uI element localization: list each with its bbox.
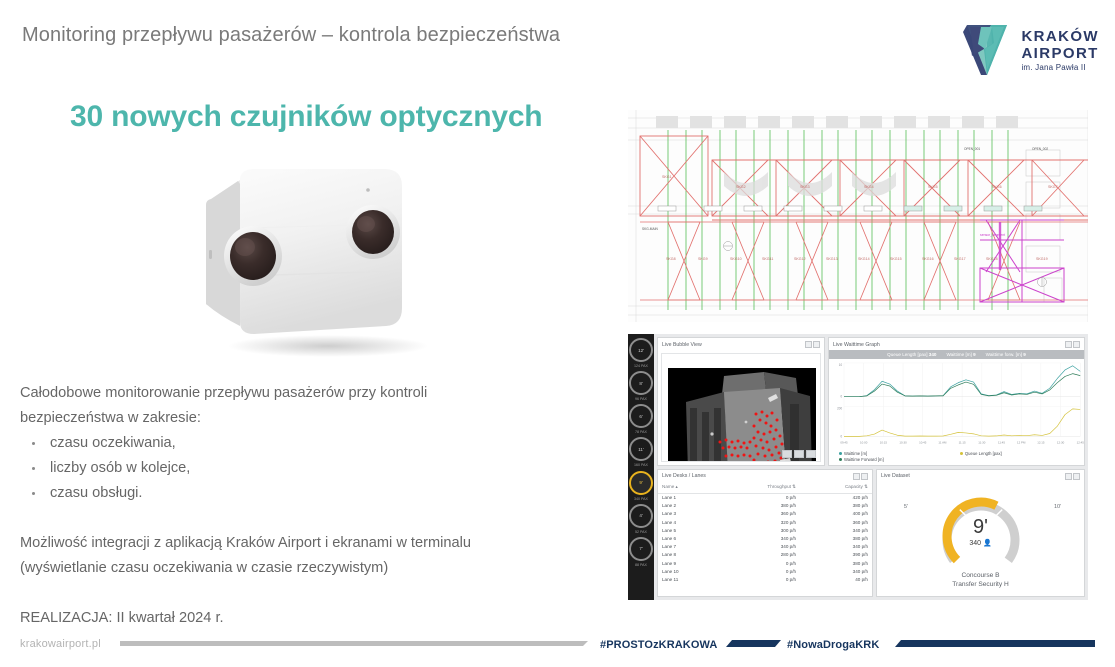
lane-name: Lane 9	[658, 559, 715, 567]
rail-gauge-caption: 78 PAX	[635, 430, 647, 434]
table-row[interactable]: Lane 90 p/h380 p/h	[658, 559, 872, 567]
rail-gauge-item[interactable]: 4'	[629, 504, 653, 528]
lane-name: Lane 11	[658, 575, 715, 583]
expand-icon[interactable]	[805, 341, 812, 348]
svg-text:SKG17: SKG17	[954, 257, 966, 261]
cad-note-highlight: sensor_segment	[980, 233, 1005, 237]
table-row[interactable]: Lane 4320 p/h360 p/h	[658, 518, 872, 526]
card-body: 5' 10' 9' 340	[877, 482, 1084, 597]
intro-line-2: bezpieczeństwa w zakresie:	[20, 406, 620, 431]
footer-bar-navy-2	[895, 640, 1095, 647]
gauge-tick-right: 10'	[1054, 504, 1061, 510]
table-row[interactable]: Lane 6340 p/h380 p/h	[658, 534, 872, 542]
logo-line-1: KRAKÓW	[1021, 29, 1099, 44]
rail-gauge-caption: 52 PAX	[635, 530, 647, 534]
live-dashboard: 12' 124 PAX 8' 96 PAX 6' 78 PAX 11' 160 …	[628, 334, 1088, 600]
checkpoint-bubble-map	[668, 368, 816, 462]
svg-text:12:30: 12:30	[1057, 440, 1065, 444]
dashboard-sidebar-rail[interactable]: 12' 124 PAX 8' 96 PAX 6' 78 PAX 11' 160 …	[628, 334, 654, 600]
lane-name: Lane 1	[658, 493, 715, 502]
svg-text:10: 10	[839, 363, 843, 367]
legend-label: Waittime [m]	[844, 451, 867, 456]
rail-gauge-item[interactable]: 7'	[629, 537, 653, 561]
svg-text:12:15: 12:15	[1037, 440, 1045, 444]
rail-gauge-caption: 88 PAX	[635, 563, 647, 567]
gauge-tick-left: 5'	[904, 504, 908, 510]
dashboard-content: Live Bubble View	[654, 334, 1088, 600]
krakow-airport-logo: KRAKÓW AIRPORT im. Jana Pawła II	[961, 22, 1099, 78]
logo-mark-icon	[961, 22, 1013, 78]
svg-text:SKG-MAIN: SKG-MAIN	[642, 227, 658, 231]
lane-name: Lane 7	[658, 543, 715, 551]
table-row[interactable]: Lane 3360 p/h400 p/h	[658, 510, 872, 518]
card-title: Live Bubble View	[662, 342, 702, 348]
paragraph-spacer	[20, 506, 620, 531]
svg-text:SKG5: SKG5	[928, 185, 938, 189]
legend-item: Waittime [m]	[839, 451, 884, 456]
legend-item: Queue Length [pax]	[960, 451, 1002, 456]
waittime-gauge	[933, 488, 1029, 570]
svg-text:SKG11: SKG11	[762, 257, 773, 261]
svg-text:11:45: 11:45	[998, 440, 1005, 444]
svg-text:SKG9: SKG9	[698, 257, 708, 261]
waittime-chart-area: 100200009:4510:0010:1510:3010:4511 AM11:…	[829, 359, 1084, 450]
view-mode-3-icon[interactable]	[806, 450, 816, 458]
card-title: Live Desks / Lanes	[662, 473, 706, 479]
svg-text:SKG18: SKG18	[986, 257, 998, 261]
lane-throughput: 340 p/h	[715, 543, 800, 551]
expand-icon[interactable]	[853, 473, 860, 480]
svg-text:09:45: 09:45	[840, 440, 848, 444]
lane-throughput: 0 p/h	[715, 559, 800, 567]
rail-gauge-item-active[interactable]: 9'	[629, 471, 653, 495]
list-item: czasu obsługi.	[20, 481, 620, 506]
table-row[interactable]: Lane 2380 p/h380 p/h	[658, 502, 872, 510]
svg-text:10:30: 10:30	[899, 440, 907, 444]
svg-text:12 PM: 12 PM	[1017, 440, 1026, 444]
logo-line-3: im. Jana Pawła II	[1021, 64, 1099, 72]
body-copy: Całodobowe monitorowanie przepływu pasaż…	[20, 381, 620, 631]
card-header: Live Bubble View	[658, 338, 824, 350]
stat-waittime: Waittime [m] 9	[946, 352, 975, 357]
lane-name: Lane 2	[658, 502, 715, 510]
legend-label: Waittime Forward [m]	[844, 457, 884, 462]
lane-capacity: 40 p/h	[800, 575, 872, 583]
lane-capacity: 390 p/h	[800, 551, 872, 559]
gauge-wrapper: 5' 10' 9' 340	[877, 482, 1084, 597]
rail-gauge-caption: 124 PAX	[634, 364, 648, 368]
svg-text:10:15: 10:15	[880, 440, 888, 444]
legend-spacer	[884, 451, 960, 462]
svg-text:SKG7: SKG7	[1048, 185, 1058, 189]
svg-text:200: 200	[837, 407, 842, 411]
svg-text:SKG1: SKG1	[662, 175, 672, 179]
lane-name: Lane 5	[658, 526, 715, 534]
scope-bullet-list: czasu oczekiwania, liczby osób w kolejce…	[20, 431, 620, 506]
lane-capacity: 340 p/h	[800, 543, 872, 551]
stat-queue-length: Queue Length [pax] 340	[887, 352, 936, 357]
headline: 30 nowych czujników optycznych	[70, 100, 542, 134]
lanes-table: Name ▴ Throughput ⇅ Capacity ⇅ Lane 10 p…	[658, 482, 872, 584]
svg-text:SKG19: SKG19	[1036, 257, 1048, 261]
svg-text:SKG8: SKG8	[666, 257, 676, 261]
intro-line-1: Całodobowe monitorowanie przepływu pasaż…	[20, 381, 620, 406]
dashboard-row-top: Live Bubble View	[657, 337, 1085, 466]
lane-throughput: 340 p/h	[715, 534, 800, 542]
svg-text:10:00: 10:00	[860, 440, 868, 444]
waittime-line-chart: 100200009:4510:0010:1510:3010:4511 AM11:…	[829, 359, 1084, 450]
terminal-coverage-plan: sensor_segment SKG1SKG2SKG3 SKG4SKG5SKG6…	[628, 110, 1088, 322]
rail-gauge-caption: 96 PAX	[635, 397, 647, 401]
rail-gauge-item[interactable]: 6'	[629, 404, 653, 428]
lane-throughput: 280 p/h	[715, 551, 800, 559]
card-body: Name ▴ Throughput ⇅ Capacity ⇅ Lane 10 p…	[658, 482, 872, 597]
view-mode-2-icon[interactable]	[794, 450, 804, 458]
card-tools[interactable]	[805, 341, 820, 348]
card-header: Live Dataset	[877, 470, 1084, 482]
legend-swatch-icon	[839, 458, 842, 461]
lane-name: Lane 3	[658, 510, 715, 518]
svg-text:11:30: 11:30	[978, 440, 985, 444]
collapse-icon[interactable]	[861, 473, 868, 480]
integration-line-2: (wyświetlanie czasu oczekiwania w czasie…	[20, 556, 620, 581]
live-lanes-card: Live Desks / Lanes Name ▴ Throughput ⇅	[657, 469, 873, 598]
table-header-row: Name ▴ Throughput ⇅ Capacity ⇅	[658, 482, 872, 494]
legend-swatch-icon	[960, 452, 963, 455]
expand-icon[interactable]	[1065, 341, 1072, 348]
col-throughput[interactable]: Throughput ⇅	[715, 482, 800, 494]
expand-icon[interactable]	[1065, 473, 1072, 480]
list-item: czasu oczekiwania,	[20, 431, 620, 456]
lane-capacity: 380 p/h	[800, 502, 872, 510]
footer-hashtag-1: #PROSTOzKRAKOWA	[600, 639, 717, 651]
card-header: Live Desks / Lanes	[658, 470, 872, 482]
lane-throughput: 380 p/h	[715, 502, 800, 510]
table-row[interactable]: Lane 8280 p/h390 p/h	[658, 551, 872, 559]
slide-footer: krakowairport.pl #PROSTOzKRAKOWA #NowaDr…	[0, 621, 1115, 667]
svg-text:SKG10: SKG10	[730, 257, 742, 261]
svg-text:0: 0	[840, 434, 842, 438]
legend-col-left: Waittime [m] Waittime Forward [m]	[839, 451, 884, 462]
cad-drawing: sensor_segment SKG1SKG2SKG3 SKG4SKG5SKG6…	[628, 110, 1088, 322]
svg-text:SKG14: SKG14	[858, 257, 870, 261]
legend-spacer	[1002, 451, 1078, 462]
lane-capacity: 360 p/h	[800, 518, 872, 526]
col-name[interactable]: Name ▴	[658, 482, 715, 494]
svg-text:11:15: 11:15	[959, 440, 966, 444]
live-waittime-graph-card: Live Waittime Graph Queue Length [pax] 3…	[828, 337, 1085, 466]
svg-text:SKG12: SKG12	[794, 257, 806, 261]
svg-text:SKG16: SKG16	[922, 257, 934, 261]
lane-capacity: 340 p/h	[800, 526, 872, 534]
legend-col-right: Queue Length [pax]	[960, 451, 1002, 462]
lanes-table-body: Lane 10 p/h420 p/hLane 2380 p/h380 p/hLa…	[658, 493, 872, 584]
lane-capacity: 380 p/h	[800, 559, 872, 567]
live-bubble-view-card: Live Bubble View	[657, 337, 825, 466]
lane-name: Lane 8	[658, 551, 715, 559]
table-row[interactable]: Lane 5300 p/h340 p/h	[658, 526, 872, 534]
table-row[interactable]: Lane 100 p/h340 p/h	[658, 567, 872, 575]
card-tools[interactable]	[1065, 341, 1080, 348]
svg-text:SKG15: SKG15	[890, 257, 902, 261]
bubble-view-controls[interactable]	[782, 450, 816, 458]
optical-stereo-sensor-image	[180, 150, 460, 365]
card-body	[658, 350, 824, 465]
rail-gauge-item[interactable]: 12'	[629, 338, 653, 362]
svg-text:12:45: 12:45	[1077, 440, 1084, 444]
page-title: Monitoring przepływu pasażerów – kontrol…	[22, 24, 560, 47]
lane-name: Lane 10	[658, 567, 715, 575]
svg-text:SKG4: SKG4	[864, 185, 874, 189]
svg-text:SKG6: SKG6	[992, 185, 1002, 189]
svg-text:OPEN_001: OPEN_001	[964, 147, 980, 151]
svg-text:SKG13: SKG13	[826, 257, 838, 261]
legend-item: Waittime Forward [m]	[839, 457, 884, 462]
svg-text:11 AM: 11 AM	[938, 440, 947, 444]
collapse-icon[interactable]	[813, 341, 820, 348]
collapse-icon[interactable]	[1073, 341, 1080, 348]
legend-swatch-icon	[839, 452, 842, 455]
card-tools[interactable]	[853, 473, 868, 480]
card-title: Live Waittime Graph	[833, 342, 880, 348]
card-tools[interactable]	[1065, 473, 1080, 480]
lane-capacity: 340 p/h	[800, 567, 872, 575]
footer-hashtag-2: #NowaDrogaKRK	[787, 639, 879, 651]
lane-throughput: 0 p/h	[715, 575, 800, 583]
rail-gauge-item[interactable]: 8'	[629, 371, 653, 395]
rail-gauge-caption: 340 PAX	[634, 497, 648, 501]
integration-line-1: Możliwość integracji z aplikacją Kraków …	[20, 531, 620, 556]
svg-text:0: 0	[840, 395, 842, 399]
paragraph-spacer	[20, 581, 620, 606]
svg-text:OPEN_002: OPEN_002	[1032, 147, 1048, 151]
bubble-stage[interactable]	[661, 353, 821, 462]
table-row[interactable]: Lane 7340 p/h340 p/h	[658, 543, 872, 551]
table-row[interactable]: Lane 110 p/h40 p/h	[658, 575, 872, 583]
card-title: Live Dataset	[881, 473, 910, 479]
svg-text:10:45: 10:45	[919, 440, 927, 444]
rail-gauge-caption: 160 PAX	[634, 463, 648, 467]
footer-bar-navy-1	[726, 640, 781, 647]
lane-capacity: 380 p/h	[800, 534, 872, 542]
logo-line-2: AIRPORT	[1021, 46, 1099, 61]
svg-text:SKG3: SKG3	[800, 185, 810, 189]
svg-text:SKG2: SKG2	[736, 185, 746, 189]
legend-label: Queue Length [pax]	[965, 451, 1002, 456]
lane-capacity: 400 p/h	[800, 510, 872, 518]
lane-throughput: 0 p/h	[715, 567, 800, 575]
view-mode-1-icon[interactable]	[782, 450, 792, 458]
collapse-icon[interactable]	[1073, 473, 1080, 480]
gauge-label-line-1: Concourse B	[952, 572, 1009, 581]
footer-brand: krakowairport.pl	[20, 638, 101, 650]
rail-gauge-item[interactable]: 11'	[629, 437, 653, 461]
dashboard-row-bottom: Live Desks / Lanes Name ▴ Throughput ⇅	[657, 469, 1085, 598]
live-dataset-gauge-card: Live Dataset 5' 10'	[876, 469, 1085, 598]
slide-root: Monitoring przepływu pasażerów – kontrol…	[0, 0, 1115, 667]
col-capacity[interactable]: Capacity ⇅	[800, 482, 872, 494]
lane-name: Lane 4	[658, 518, 715, 526]
table-row[interactable]: Lane 10 p/h420 p/h	[658, 493, 872, 502]
lane-name: Lane 6	[658, 534, 715, 542]
gauge-location-label: Concourse B Transfer Security H	[952, 572, 1009, 590]
footer-bar-gray	[120, 641, 588, 646]
card-header: Live Waittime Graph	[829, 338, 1084, 350]
chart-legend: Waittime [m] Waittime Forward [m] Q	[829, 450, 1084, 465]
lane-throughput: 300 p/h	[715, 526, 800, 534]
waittime-stat-bar: Queue Length [pax] 340 Waittime [m] 9 Wa…	[829, 350, 1084, 359]
lane-throughput: 0 p/h	[715, 493, 800, 502]
list-item: liczby osób w kolejce,	[20, 456, 620, 481]
lane-throughput: 360 p/h	[715, 510, 800, 518]
lane-throughput: 320 p/h	[715, 518, 800, 526]
gauge-label-line-2: Transfer Security H	[952, 581, 1009, 590]
stat-waittime-forward: Waittime forw. [m] 9	[986, 352, 1026, 357]
lane-capacity: 420 p/h	[800, 493, 872, 502]
